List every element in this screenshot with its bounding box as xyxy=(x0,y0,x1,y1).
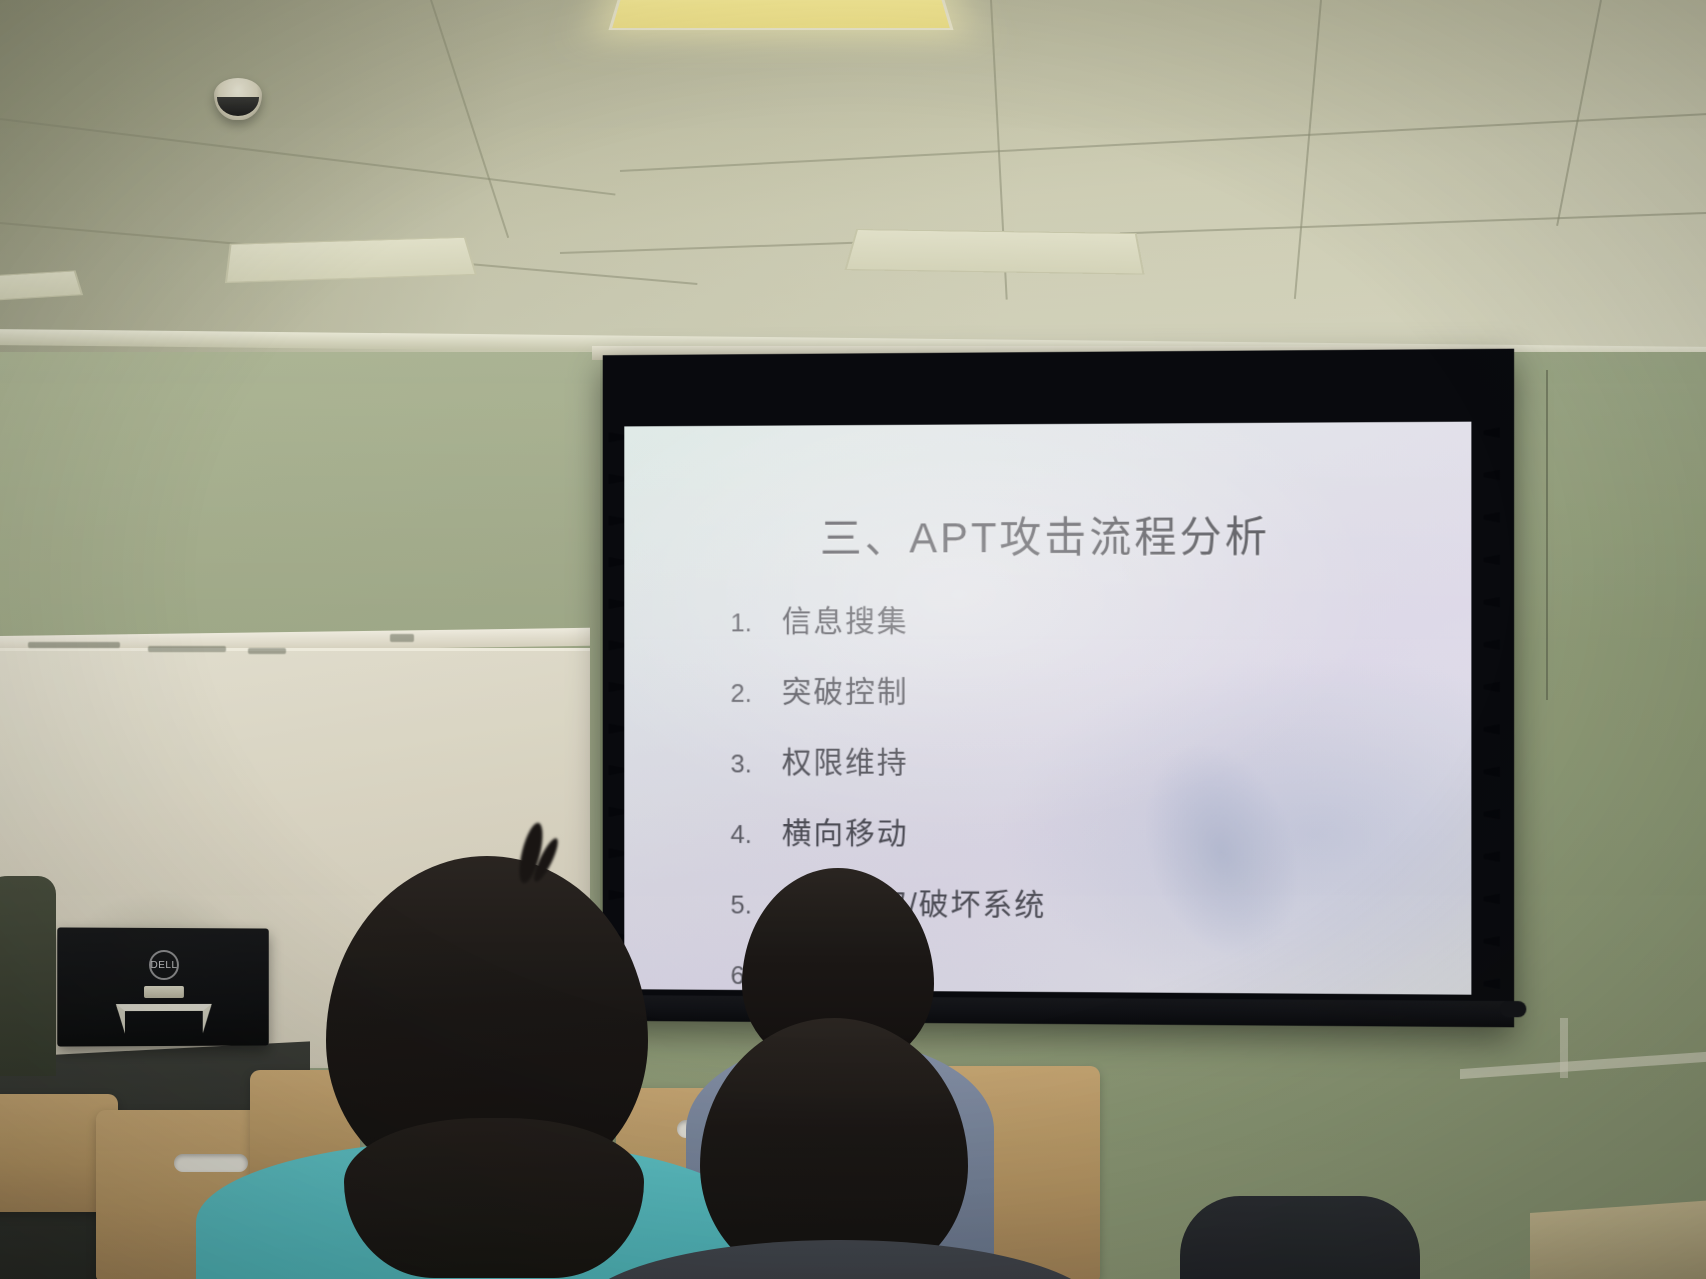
student-front-left-neck-hair xyxy=(344,1118,644,1278)
monitor-stand xyxy=(116,1004,212,1048)
wall-trim-right-vertical xyxy=(1560,1018,1568,1078)
screen-pull-cord xyxy=(1546,370,1548,700)
ceiling-light-panel-lit xyxy=(608,0,953,30)
student-front-right xyxy=(700,1018,968,1279)
list-item-number: 1. xyxy=(730,607,781,638)
whiteboard-writing xyxy=(28,642,120,648)
slide-list-item: 3. 权限维持 xyxy=(730,738,1046,782)
person-far-left xyxy=(0,876,56,1076)
dell-logo-icon: DELL xyxy=(149,950,179,980)
projection-screen: 三、APT攻击流程分析 1. 信息搜集 2. 突破控制 3. 权限维持 xyxy=(603,349,1514,1028)
list-item-number: 4. xyxy=(730,819,781,850)
whiteboard-writing xyxy=(248,648,286,654)
slide-list-item: 4. 横向移动 xyxy=(730,808,1046,853)
whiteboard-writing xyxy=(148,646,226,652)
monitor-sticker xyxy=(144,986,184,998)
ceiling-light-panel-off xyxy=(225,237,477,283)
screen-roller-knob xyxy=(1500,1001,1526,1017)
ceiling-light-panel-off xyxy=(844,229,1144,275)
screen-tension-tabs-right xyxy=(1484,428,1500,993)
dell-monitor: DELL xyxy=(57,927,269,1046)
student-front-left xyxy=(326,856,648,1186)
list-item-text: 信息搜集 xyxy=(782,596,909,640)
list-item-number: 3. xyxy=(730,749,781,780)
ceiling-shading xyxy=(0,0,1706,370)
chair-handle-slot xyxy=(174,1154,248,1172)
classroom-photo-scene: 三、APT攻击流程分析 1. 信息搜集 2. 突破控制 3. 权限维持 xyxy=(0,0,1706,1279)
whiteboard-writing xyxy=(390,634,414,642)
list-item-text: 横向移动 xyxy=(782,808,909,852)
slide-title: 三、APT攻击流程分析 xyxy=(624,502,1471,566)
list-item-number: 2. xyxy=(730,678,781,709)
slide-list-item: 2. 突破控制 xyxy=(730,667,1046,711)
slide-list-item: 1. 信息搜集 xyxy=(730,596,1046,640)
desk-surface-right xyxy=(1530,1199,1706,1279)
list-item-text: 权限维持 xyxy=(782,738,909,782)
list-item-text: 突破控制 xyxy=(782,667,909,711)
person-right-edge xyxy=(1180,1196,1420,1279)
